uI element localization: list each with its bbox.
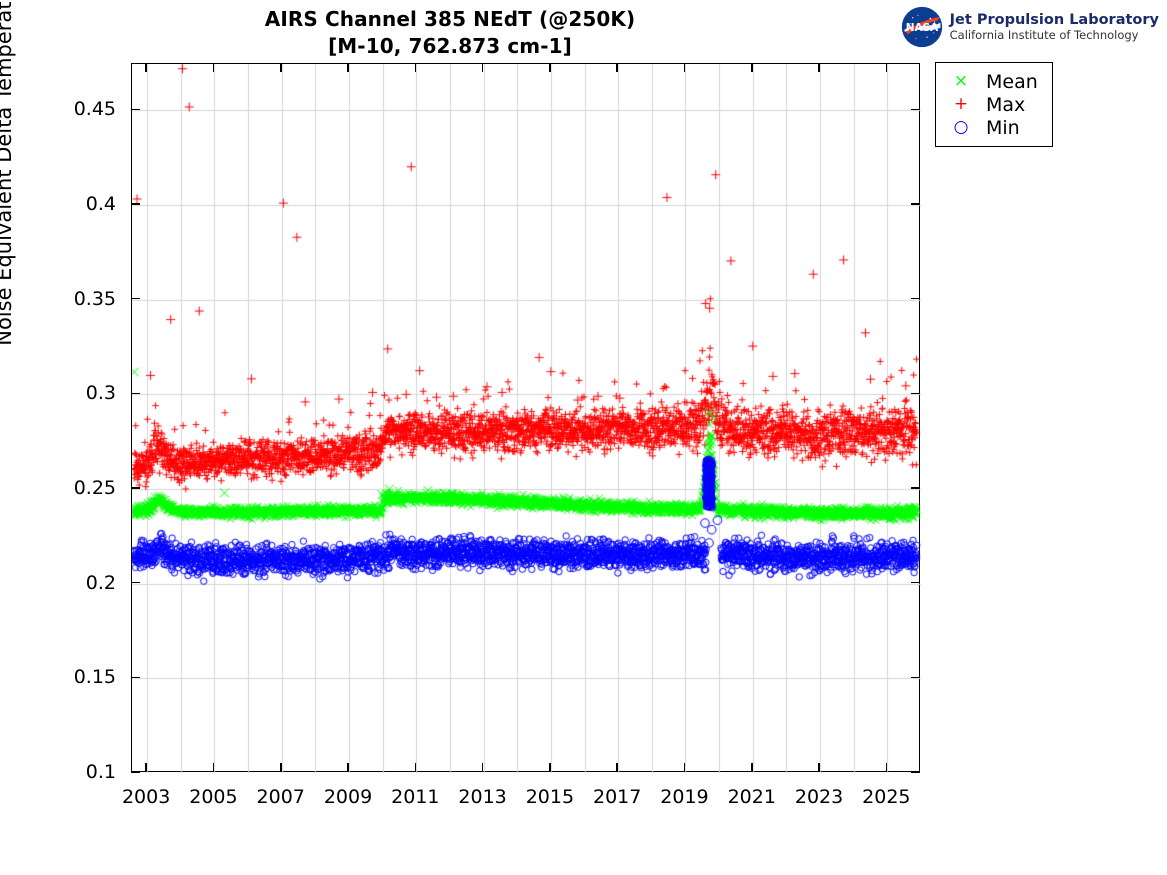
x-tick-mark xyxy=(280,763,282,772)
x-tick-mark xyxy=(616,763,618,772)
y-tick-mark xyxy=(911,771,920,773)
x-tick-mark xyxy=(818,63,820,72)
nasa-meatball-icon: NASA xyxy=(901,6,943,48)
jpl-text-block: Jet Propulsion Laboratory California Ins… xyxy=(950,12,1159,41)
legend-item-max[interactable]: +Max xyxy=(944,93,1038,116)
y-tick-mark xyxy=(911,677,920,679)
x-tick-mark xyxy=(213,763,215,772)
plot-frame xyxy=(131,63,920,772)
x-tick-mark xyxy=(347,63,349,72)
chart-title-line2: [M-10, 762.873 cm-1] xyxy=(0,33,900,60)
y-tick-mark xyxy=(131,771,140,773)
legend-marker-o-icon: ○ xyxy=(944,119,978,136)
y-tick-label: 0.1 xyxy=(0,761,116,783)
legend-item-min[interactable]: ○Min xyxy=(944,116,1038,139)
x-tick-mark xyxy=(549,763,551,772)
y-tick-mark xyxy=(131,109,140,111)
x-tick-mark xyxy=(751,763,753,772)
y-tick-mark xyxy=(911,582,920,584)
x-tick-mark xyxy=(818,763,820,772)
y-tick-mark xyxy=(131,582,140,584)
y-tick-mark xyxy=(911,298,920,300)
x-tick-mark xyxy=(415,763,417,772)
y-tick-mark xyxy=(131,487,140,489)
y-tick-label: 0.4 xyxy=(0,193,116,215)
y-tick-label: 0.45 xyxy=(0,98,116,120)
scatter-plot-canvas xyxy=(132,64,921,773)
y-tick-label: 0.35 xyxy=(0,288,116,310)
legend-label: Mean xyxy=(978,71,1038,93)
y-tick-mark xyxy=(131,393,140,395)
legend-label: Min xyxy=(978,117,1020,139)
x-tick-mark xyxy=(347,763,349,772)
x-tick-mark xyxy=(145,763,147,772)
y-tick-label: 0.25 xyxy=(0,477,116,499)
nasa-jpl-logo: NASA Jet Propulsion Laboratory Californi… xyxy=(901,6,1159,48)
x-tick-mark xyxy=(482,63,484,72)
chart-title-line1: AIRS Channel 385 NEdT (@250K) xyxy=(0,6,900,33)
legend-label: Max xyxy=(978,94,1025,116)
x-tick-mark xyxy=(886,63,888,72)
x-tick-mark xyxy=(145,63,147,72)
x-tick-mark xyxy=(213,63,215,72)
jpl-name: Jet Propulsion Laboratory xyxy=(950,12,1159,28)
y-tick-mark xyxy=(911,109,920,111)
x-tick-label: 2025 xyxy=(841,786,931,808)
y-tick-mark xyxy=(131,203,140,205)
x-tick-mark xyxy=(549,63,551,72)
legend-marker-+-icon: + xyxy=(944,96,978,113)
x-tick-mark xyxy=(415,63,417,72)
x-tick-mark xyxy=(616,63,618,72)
legend-marker-x-icon: × xyxy=(944,73,978,90)
y-tick-label: 0.3 xyxy=(0,382,116,404)
y-tick-mark xyxy=(911,203,920,205)
y-tick-mark xyxy=(911,487,920,489)
y-tick-label: 0.15 xyxy=(0,666,116,688)
x-tick-mark xyxy=(280,63,282,72)
nasa-wordmark: NASA xyxy=(905,22,938,34)
y-tick-mark xyxy=(911,393,920,395)
y-tick-mark xyxy=(131,677,140,679)
y-tick-label: 0.2 xyxy=(0,572,116,594)
chart-legend: ×Mean+Max○Min xyxy=(935,62,1053,147)
chart-title: AIRS Channel 385 NEdT (@250K) [M-10, 762… xyxy=(0,6,900,60)
x-tick-mark xyxy=(886,763,888,772)
x-tick-mark xyxy=(684,763,686,772)
x-tick-mark xyxy=(684,63,686,72)
legend-item-mean[interactable]: ×Mean xyxy=(944,70,1038,93)
x-tick-mark xyxy=(482,763,484,772)
jpl-subtitle: California Institute of Technology xyxy=(950,29,1159,42)
y-tick-mark xyxy=(131,298,140,300)
x-tick-mark xyxy=(751,63,753,72)
